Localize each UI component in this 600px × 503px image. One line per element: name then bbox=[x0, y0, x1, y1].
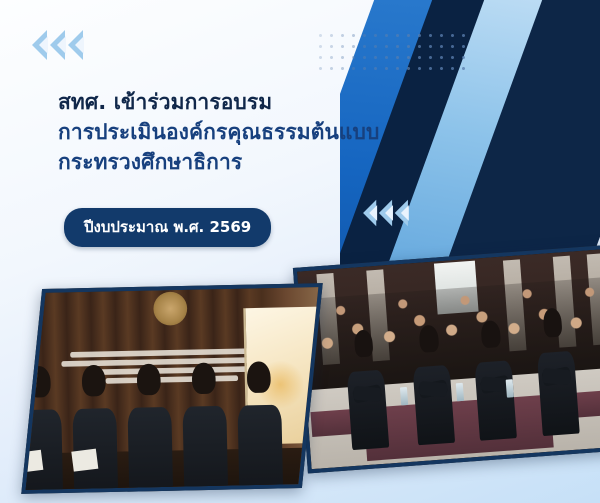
panel-person-hair bbox=[27, 365, 51, 397]
panel-person-body bbox=[183, 406, 228, 489]
conference-hall-photo-content bbox=[297, 249, 600, 469]
hall-person-body bbox=[474, 360, 517, 441]
panel-caption-line bbox=[70, 348, 272, 358]
chevrons-left-icon-middle bbox=[363, 200, 408, 226]
hall-person-arms bbox=[353, 386, 382, 402]
chevrons-left-icon-top bbox=[32, 30, 83, 60]
chevron-left-icon bbox=[395, 200, 408, 226]
hall-person-arms bbox=[418, 381, 447, 397]
panel-person-hair bbox=[137, 363, 161, 395]
hall-person-arms bbox=[542, 368, 571, 385]
panel-person-hair bbox=[192, 362, 216, 394]
announcement-banner: สทศ. เข้าร่วมการอบรม การประเมินองค์กรคุณ… bbox=[0, 0, 600, 503]
headline-line-1: สทศ. เข้าร่วมการอบรม bbox=[58, 88, 398, 118]
hall-person-body bbox=[412, 365, 455, 446]
chevron-left-icon bbox=[379, 200, 392, 226]
panel-person bbox=[233, 364, 288, 488]
panel-discussion-photo-content bbox=[21, 283, 323, 494]
panel-person bbox=[21, 369, 67, 493]
hall-person-hair bbox=[542, 307, 563, 338]
conference-hall-photo bbox=[293, 245, 600, 474]
panel-person-hair bbox=[247, 361, 271, 393]
panel-person bbox=[123, 366, 178, 490]
panel-person-paper bbox=[72, 448, 99, 471]
chevron-left-icon bbox=[363, 200, 376, 226]
fiscal-year-badge: ปีงบประมาณ พ.ศ. 2569 bbox=[64, 208, 271, 247]
panel-discussion-photo bbox=[21, 283, 323, 494]
chevron-left-icon bbox=[50, 30, 65, 60]
hall-person-body bbox=[347, 370, 390, 451]
panel-person bbox=[178, 365, 233, 489]
hall-person-hair bbox=[418, 324, 439, 353]
panel-person-hair bbox=[82, 364, 106, 396]
panel-person-body bbox=[128, 407, 173, 490]
hall-water-bottle bbox=[400, 387, 409, 405]
conference-hall-scene bbox=[297, 249, 600, 469]
panel-person-paper bbox=[21, 449, 44, 472]
page-title: สทศ. เข้าร่วมการอบรม การประเมินองค์กรคุณ… bbox=[58, 88, 398, 177]
dot-grid-pattern bbox=[315, 30, 465, 74]
headline-line-2: การประเมินองค์กรคุณธรรมต้นแบบ bbox=[58, 118, 398, 148]
hall-person bbox=[408, 328, 457, 445]
hall-person-body bbox=[536, 350, 579, 436]
hall-person-arms bbox=[480, 377, 509, 393]
hall-water-bottle bbox=[505, 379, 514, 397]
hall-person-hair bbox=[481, 320, 502, 349]
hall-person-hair bbox=[353, 329, 374, 358]
hall-water-bottle bbox=[456, 383, 465, 401]
panel-person-body bbox=[238, 405, 283, 488]
ministry-seal-emblem bbox=[153, 291, 187, 325]
panel-person-body bbox=[21, 409, 63, 492]
headline-line-3: กระทรวงศึกษาธิการ bbox=[58, 148, 398, 178]
chevron-left-icon bbox=[68, 30, 83, 60]
panel-discussion-scene bbox=[21, 283, 323, 494]
chevron-left-icon bbox=[32, 30, 47, 60]
panel-person bbox=[68, 368, 123, 492]
hall-person bbox=[343, 333, 392, 450]
